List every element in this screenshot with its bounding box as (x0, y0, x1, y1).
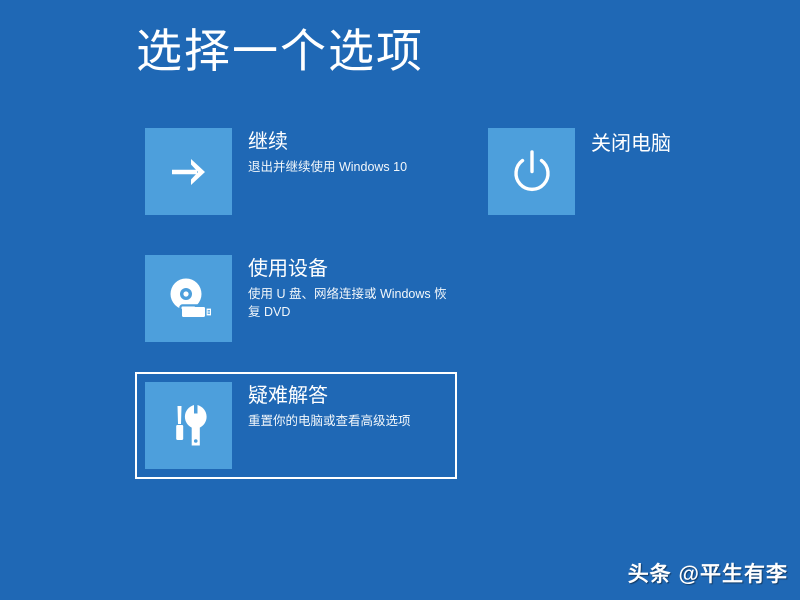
option-troubleshoot-tile (145, 382, 232, 469)
option-troubleshoot-title: 疑难解答 (248, 384, 411, 409)
option-continue-tile (145, 128, 232, 215)
page-title: 选择一个选项 (136, 25, 424, 78)
option-use-a-device[interactable]: 使用设备 使用 U 盘、网络连接或 Windows 恢复 DVD (135, 245, 465, 352)
options-left-column: 继续 退出并继续使用 Windows 10 (135, 118, 465, 479)
power-icon (507, 147, 557, 197)
option-continue[interactable]: 继续 退出并继续使用 Windows 10 (135, 118, 465, 225)
screwdriver-wrench-icon (164, 401, 214, 451)
option-turn-off-pc[interactable]: 关闭电脑 (478, 118, 778, 225)
option-continue-title: 继续 (248, 130, 407, 155)
option-use-a-device-title: 使用设备 (248, 257, 453, 282)
option-use-a-device-tile (145, 255, 232, 342)
option-use-a-device-text: 使用设备 使用 U 盘、网络连接或 Windows 恢复 DVD (232, 255, 453, 321)
arrow-right-icon (165, 148, 213, 196)
option-turn-off-pc-tile (488, 128, 575, 215)
options-right-column: 关闭电脑 (478, 118, 778, 225)
option-continue-text: 继续 退出并继续使用 Windows 10 (232, 128, 407, 176)
option-use-a-device-subtitle: 使用 U 盘、网络连接或 Windows 恢复 DVD (248, 285, 453, 321)
option-continue-subtitle: 退出并继续使用 Windows 10 (248, 158, 407, 176)
option-turn-off-pc-title: 关闭电脑 (591, 132, 671, 157)
option-turn-off-pc-text: 关闭电脑 (575, 128, 671, 157)
disc-usb-icon (162, 272, 216, 326)
recovery-screen: 选择一个选项 继续 退出并继续使用 Windows 10 (0, 0, 800, 600)
option-troubleshoot-text: 疑难解答 重置你的电脑或查看高级选项 (232, 382, 411, 430)
option-troubleshoot-subtitle: 重置你的电脑或查看高级选项 (248, 412, 411, 430)
option-troubleshoot[interactable]: 疑难解答 重置你的电脑或查看高级选项 (135, 372, 457, 479)
watermark: 头条 @平生有李 (628, 558, 788, 588)
